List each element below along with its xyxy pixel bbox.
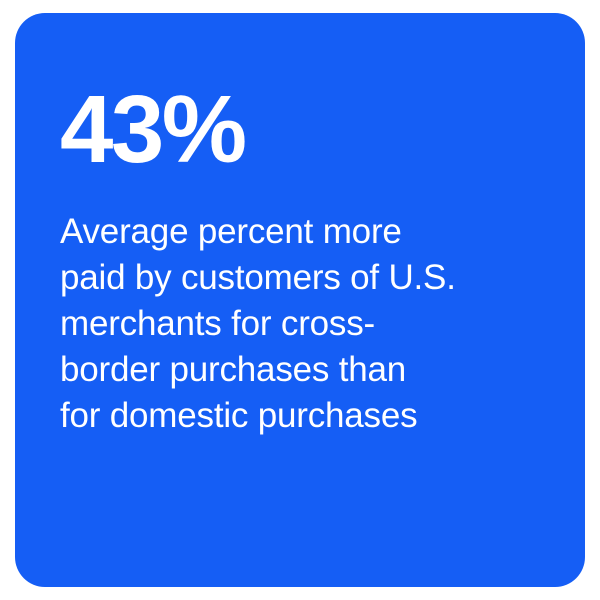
stat-description-line: Average percent more xyxy=(60,209,555,255)
card-content: 43% Average percent more paid by custome… xyxy=(60,13,555,587)
stat-description: Average percent more paid by customers o… xyxy=(60,209,555,439)
stat-description-line: paid by customers of U.S. xyxy=(60,255,555,301)
stat-description-line: merchants for cross- xyxy=(60,301,555,347)
stat-figure: 43% xyxy=(60,75,245,185)
statistic-card: 43% Average percent more paid by custome… xyxy=(15,13,585,587)
stat-description-line: border purchases than xyxy=(60,347,555,393)
stat-description-line: for domestic purchases xyxy=(60,393,555,439)
page-canvas: 43% Average percent more paid by custome… xyxy=(0,0,600,600)
